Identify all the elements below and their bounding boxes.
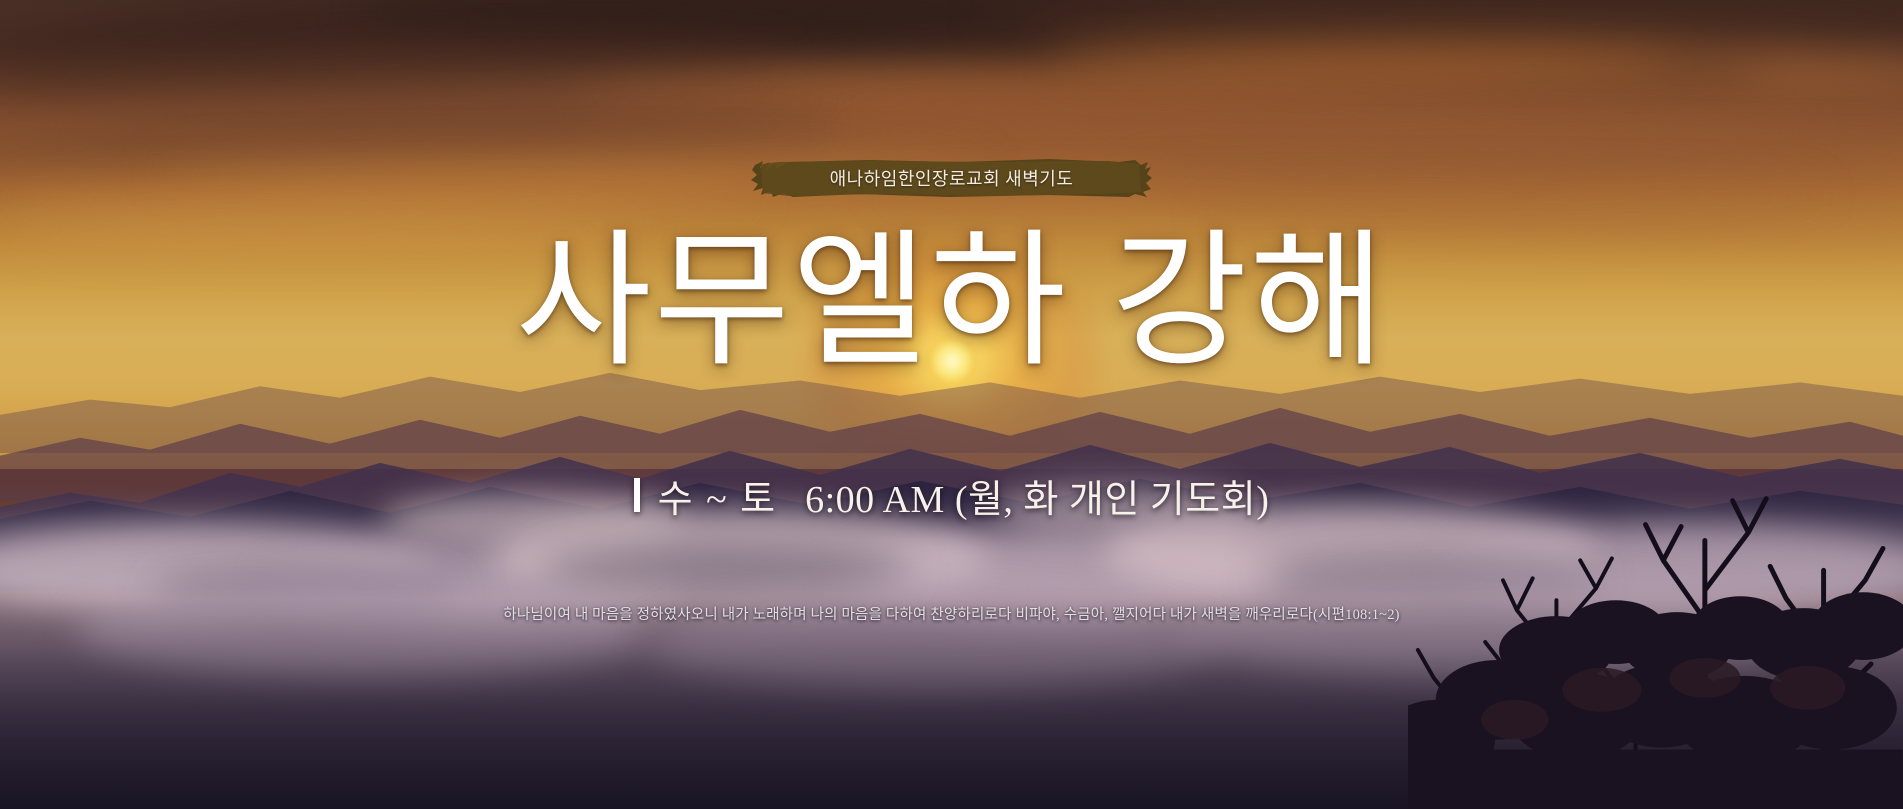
banner-content: 애나하임한인장로교회 새벽기도 사무엘하 강해 수 ~ 토 6:00 AM (월… bbox=[0, 0, 1903, 809]
schedule-time: 6:00 AM (월, 화 개인 기도회) bbox=[805, 468, 1269, 523]
schedule-days: 수 ~ 토 bbox=[658, 468, 777, 523]
eyebrow-label: 애나하임한인장로교회 새벽기도 bbox=[749, 156, 1155, 200]
hero-banner: 애나하임한인장로교회 새벽기도 사무엘하 강해 수 ~ 토 6:00 AM (월… bbox=[0, 0, 1903, 809]
scripture-verse: 하나님이여 내 마음을 정하였사오니 내가 노래하며 나의 마음을 다하여 찬양… bbox=[0, 603, 1903, 624]
page-title: 사무엘하 강해 bbox=[0, 222, 1903, 382]
eyebrow-brush-banner: 애나하임한인장로교회 새벽기도 bbox=[749, 156, 1155, 200]
tick-mark-icon bbox=[634, 478, 640, 512]
schedule-line: 수 ~ 토 6:00 AM (월, 화 개인 기도회) bbox=[0, 468, 1903, 523]
